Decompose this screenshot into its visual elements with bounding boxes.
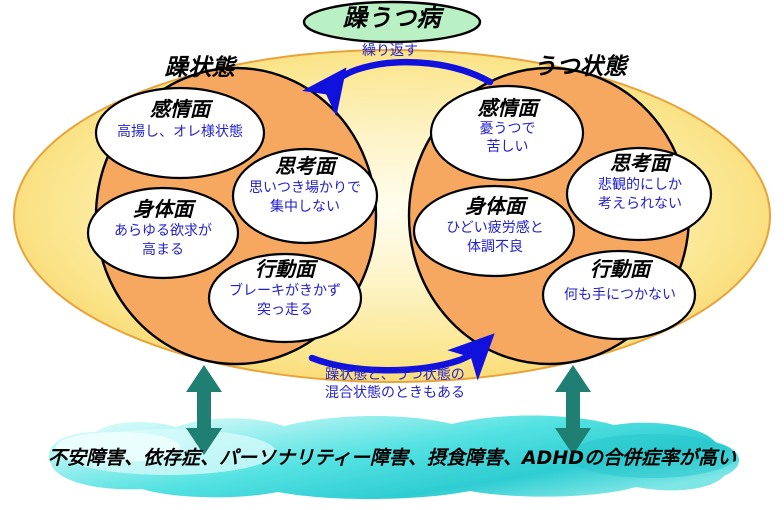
aspect-desc-line: 集中しない: [235, 198, 375, 216]
aspect-title: 行動面: [545, 258, 695, 281]
repeat-label: 繰り返す: [330, 44, 450, 60]
aspect-title: 思考面: [565, 152, 715, 175]
aspect-desc-line: 体調不良: [415, 238, 575, 256]
manic-body-label: 身体面 あらゆる欲求が 高まる: [88, 198, 238, 260]
depressive-thought-label: 思考面 悲観的にしか 考えられない: [565, 152, 715, 214]
depressive-state-heading: うつ状態: [490, 55, 670, 81]
mixed-state-label: 躁状態と、うつ状態の 混合状態のときもある: [290, 367, 500, 402]
mixed-state-line-1: 躁状態と、うつ状態の: [325, 367, 464, 383]
aspect-desc-line: 何も手につかない: [545, 287, 695, 303]
manic-thought-label: 思考面 思いつき場かりで 集中しない: [235, 155, 375, 217]
depressive-emotion-label: 感情面 憂うつで 苦しい: [430, 97, 585, 157]
aspect-title: 身体面: [415, 195, 575, 218]
manic-behavior-label: 行動面 ブレーキがきかず 突っ走る: [210, 258, 360, 320]
aspect-title: 身体面: [88, 198, 238, 221]
aspect-desc-line: 考えられない: [565, 195, 715, 213]
aspect-desc-line: 苦しい: [430, 138, 585, 156]
aspect-desc-line: 悲観的にしか: [565, 176, 715, 194]
aspect-desc-line: あらゆる欲求が: [88, 222, 238, 240]
aspect-title: 感情面: [430, 97, 585, 120]
aspect-title: 思考面: [235, 155, 375, 178]
aspect-desc-line: ひどい疲労感と: [415, 219, 575, 237]
aspect-desc-line: ブレーキがきかず: [210, 282, 360, 300]
depressive-behavior-label: 行動面 何も手につかない: [545, 258, 695, 303]
aspect-desc-line: 思いつき場かりで: [235, 179, 375, 197]
manic-state-heading: 躁状態: [110, 56, 290, 82]
manic-emotion-label: 感情面 高揚し、オレ様状態: [100, 98, 260, 140]
aspect-desc-line: 突っ走る: [210, 301, 360, 319]
diagram-canvas: 躁うつ病 繰り返す 躁状態と、うつ状態の 混合状態のときもある 躁状態 うつ状態…: [0, 0, 784, 510]
aspect-title: 行動面: [210, 258, 360, 281]
aspect-desc-line: 高まる: [88, 241, 238, 259]
aspect-title: 感情面: [100, 98, 260, 121]
aspect-desc-line: 憂うつで: [430, 120, 585, 138]
page-title: 躁うつ病: [0, 5, 784, 32]
mixed-state-line-2: 混合状態のときもある: [325, 385, 465, 401]
depressive-body-label: 身体面 ひどい疲労感と 体調不良: [415, 195, 575, 257]
aspect-desc-line: 高揚し、オレ様状態: [100, 124, 260, 140]
comorbidity-text: 不安障害、依存症、パーソナリティー障害、摂食障害、ADHDの合併症率が高い: [0, 448, 784, 469]
